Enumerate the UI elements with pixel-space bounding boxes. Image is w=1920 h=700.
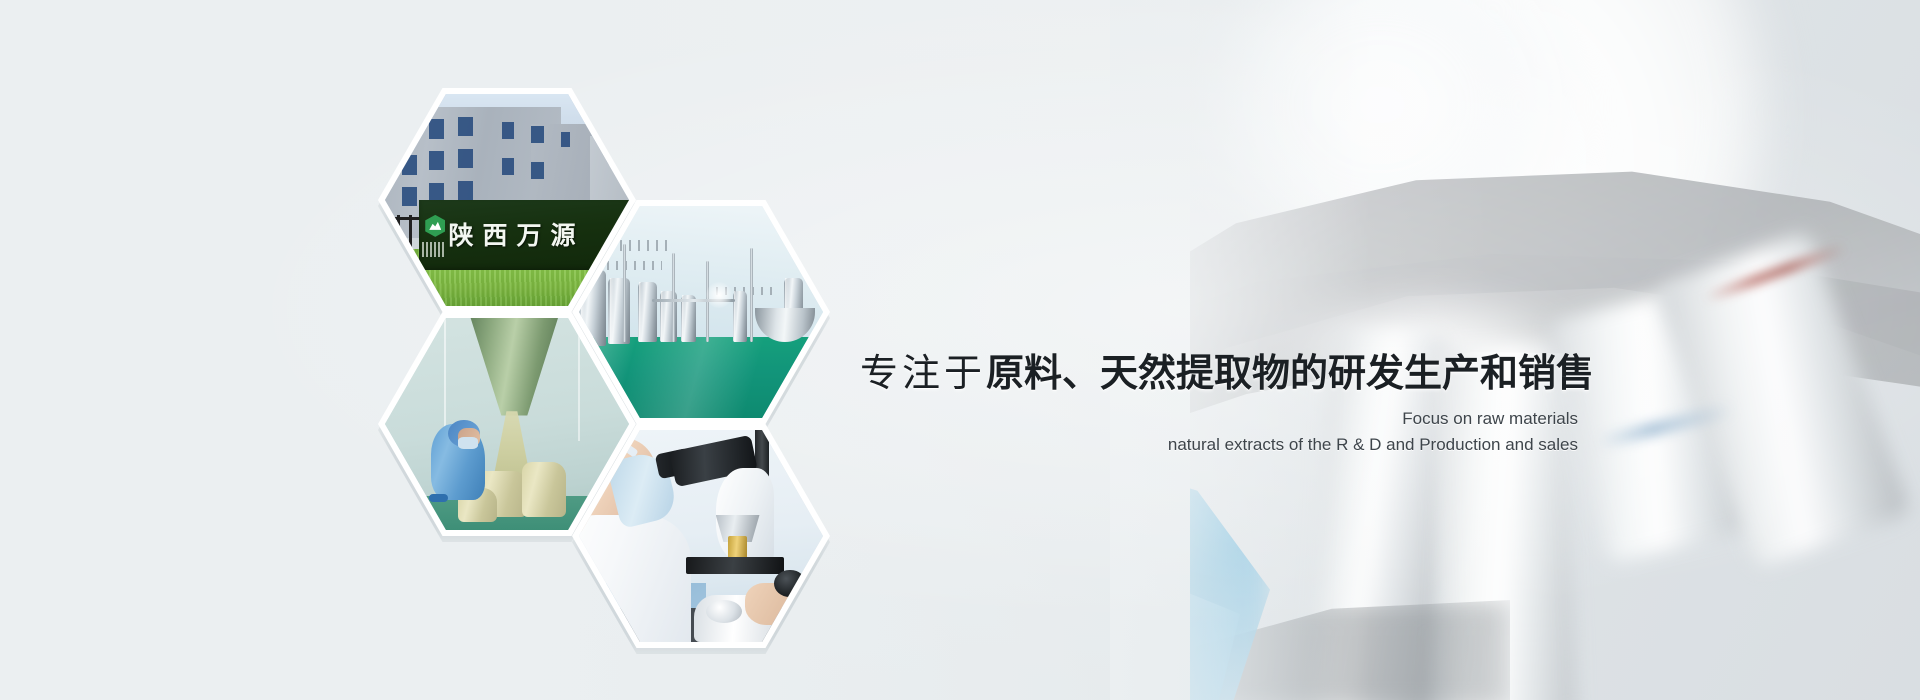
pipe: [750, 248, 753, 341]
scene-extraction-plant: [579, 206, 823, 418]
window: [429, 119, 444, 138]
hexagon-photo-cluster: 陕西万源: [0, 0, 960, 700]
hero-banner: 陕西万源: [0, 0, 1920, 700]
steel-tank: [608, 278, 630, 344]
hex-extraction-plant-image: [579, 206, 823, 418]
pipe: [623, 244, 626, 342]
headline-lead: 专注于: [860, 353, 986, 395]
worker-mask: [458, 437, 478, 450]
headline-strong: 原料、天然提取物的研发生产和销售: [986, 353, 1594, 395]
powder-bag: [522, 462, 566, 517]
scene-factory: 陕西万源: [385, 94, 629, 306]
window: [429, 151, 444, 170]
pipe: [672, 253, 675, 342]
headline: 专注于原料、天然提取物的研发生产和销售: [860, 352, 1600, 396]
window: [531, 162, 543, 179]
illumination-knob: [706, 600, 743, 623]
steel-tank: [733, 291, 748, 342]
window: [531, 126, 543, 143]
hex-factory-sign-image: 陕西万源: [385, 94, 629, 306]
hero-text-block: 专注于原料、天然提取物的研发生产和销售 Focus on raw materia…: [860, 352, 1600, 458]
window: [458, 149, 473, 168]
subheadline: Focus on raw materials natural extracts …: [860, 406, 1600, 458]
hex-powder-packing-image: [385, 318, 629, 530]
window: [402, 155, 417, 174]
hex-microscope-lab-image: [579, 430, 823, 642]
ceiling-lamp: [706, 282, 732, 308]
focus-knob: [774, 570, 806, 598]
company-logo-text: [422, 242, 444, 257]
objective-lens: [728, 536, 748, 559]
window: [458, 117, 473, 136]
scene-microscope-lab: [579, 430, 823, 642]
subheadline-line-2: natural extracts of the R & D and Produc…: [860, 432, 1578, 458]
steel-tank: [638, 282, 658, 341]
window: [458, 181, 473, 200]
steel-tank: [681, 295, 696, 342]
window: [502, 122, 514, 139]
microscope-stage: [686, 557, 784, 574]
worker-shoe: [429, 494, 449, 502]
scene-powder-packing: [385, 318, 629, 530]
window: [402, 187, 417, 206]
window: [561, 132, 571, 147]
hedge-sign-text: 陕西万源: [448, 211, 599, 258]
window: [402, 124, 417, 143]
wall-corner-2: [578, 318, 580, 441]
subheadline-line-1: Focus on raw materials: [860, 406, 1578, 432]
window: [502, 158, 514, 175]
